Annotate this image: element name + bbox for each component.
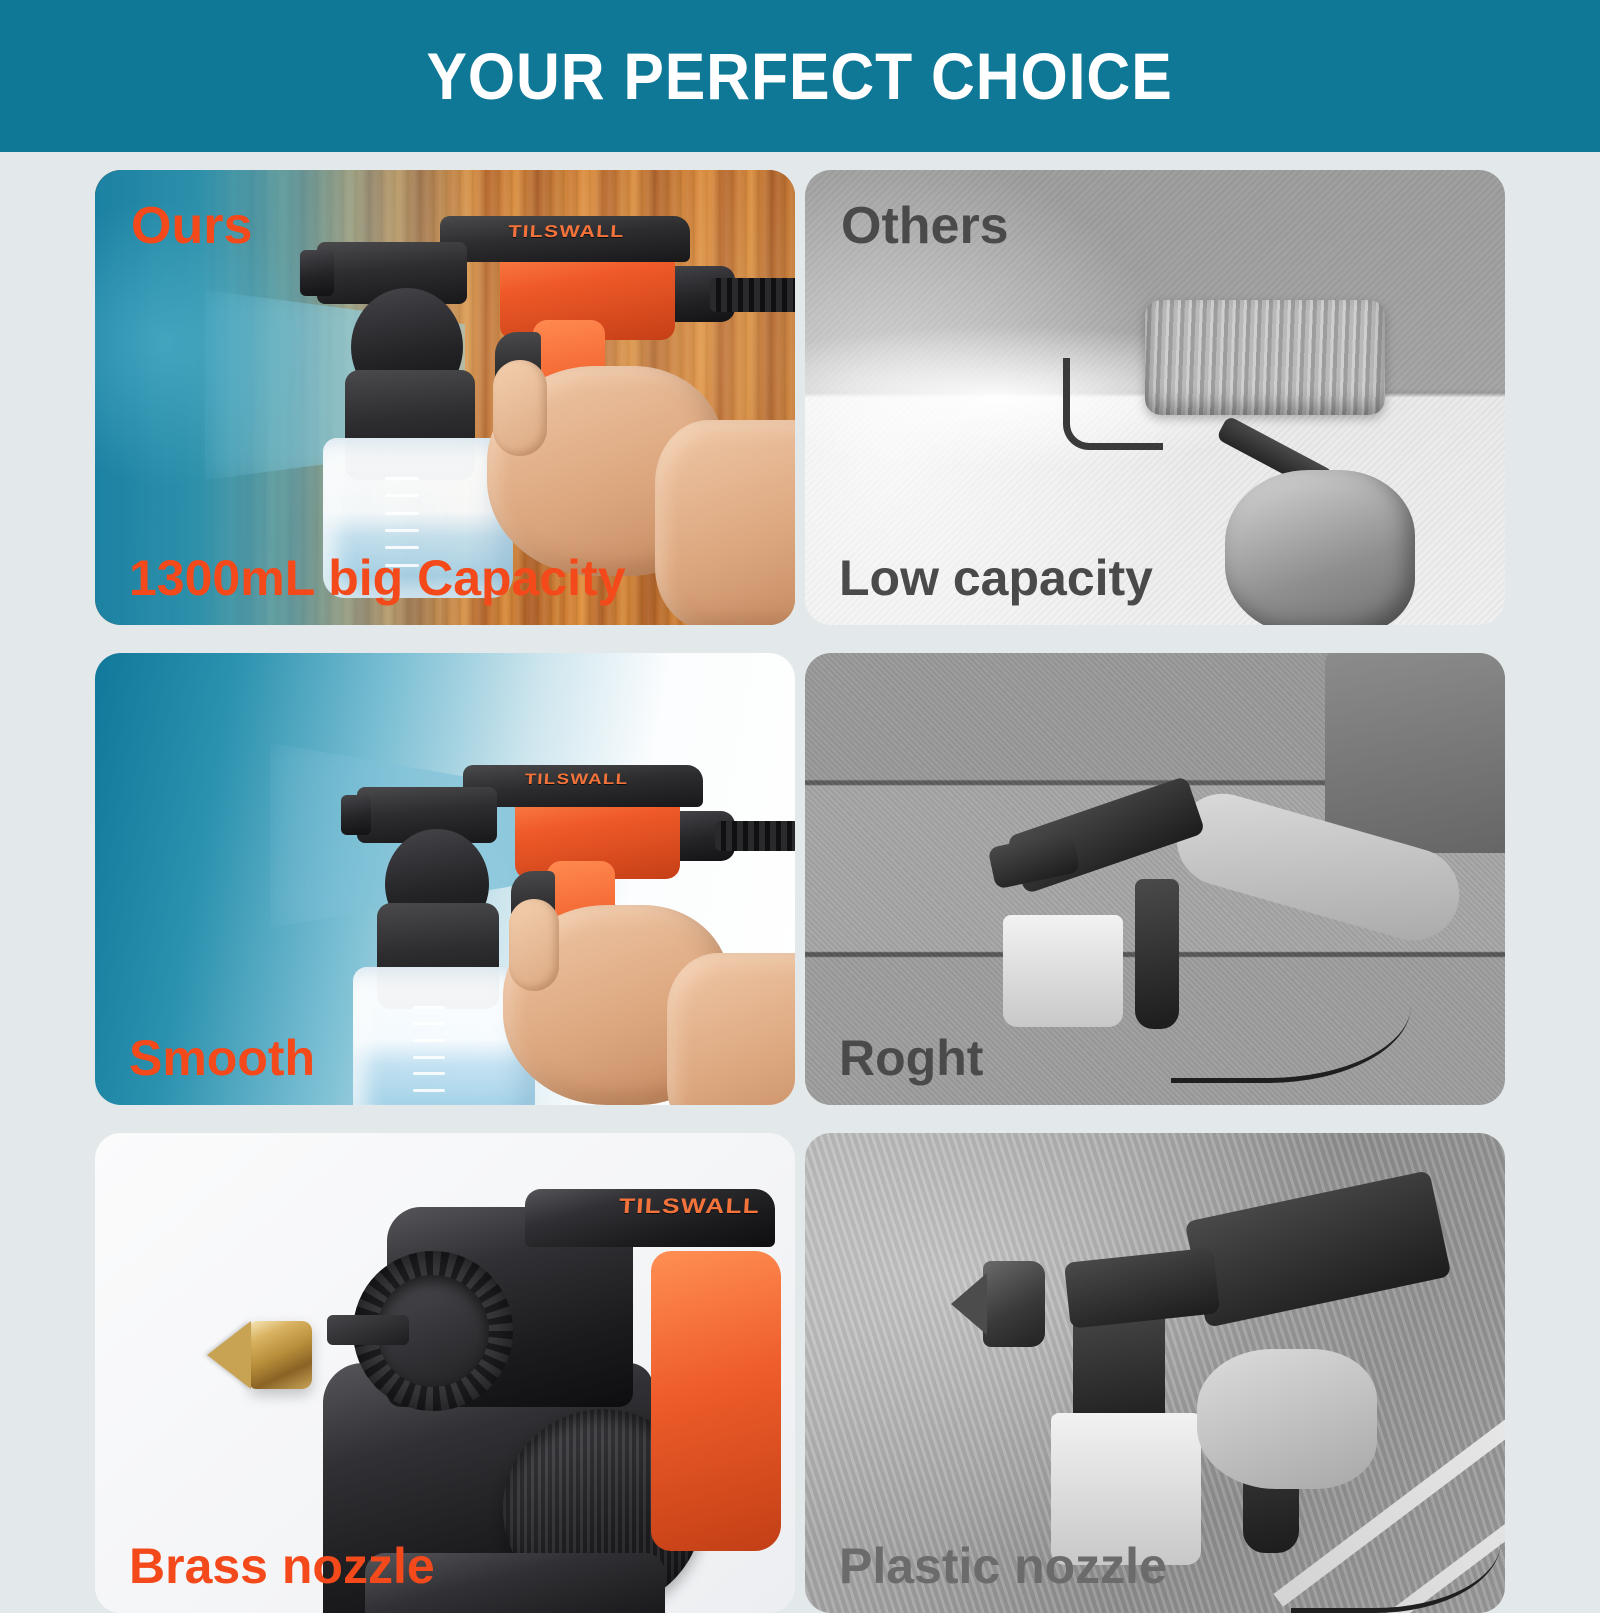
person-torso bbox=[1325, 653, 1505, 853]
brand-logo: TILSWALL bbox=[508, 222, 626, 242]
hose-icon bbox=[715, 821, 795, 851]
brass-nozzle-tip-icon bbox=[207, 1321, 251, 1389]
panel-label-smooth: Smooth bbox=[129, 1029, 315, 1087]
forearm bbox=[655, 420, 795, 625]
panel-others-rough[interactable]: Roght bbox=[805, 653, 1505, 1105]
panel-label-rough: Roght bbox=[839, 1029, 983, 1087]
competitor-paint-cup bbox=[1003, 915, 1123, 1027]
hose-icon bbox=[710, 278, 795, 312]
sprayer-orange-body bbox=[651, 1251, 781, 1551]
plastic-nozzle-icon bbox=[983, 1261, 1045, 1347]
panel-label-plastic-nozzle: Plastic nozzle bbox=[839, 1537, 1167, 1595]
comparison-grid: TILSWALL Ours 1300mL big Capacity Others… bbox=[0, 152, 1600, 1600]
gloved-hand bbox=[1225, 470, 1415, 625]
brand-logo: TILSWALL bbox=[524, 771, 629, 788]
panel-ours-brass-nozzle[interactable]: TILSWALL Brass nozzle bbox=[95, 1133, 795, 1613]
brass-nozzle-icon bbox=[250, 1321, 312, 1389]
sprayer-air-cap bbox=[341, 795, 371, 835]
paint-roller-icon bbox=[1145, 300, 1385, 415]
index-finger bbox=[509, 899, 559, 991]
paint-cup-measure-ticks bbox=[413, 999, 445, 1099]
panel-label-capacity: 1300mL big Capacity bbox=[129, 549, 626, 607]
sprayer-mount-bracket bbox=[327, 1315, 409, 1345]
sprayer-air-cap bbox=[300, 250, 334, 296]
panel-ours-smooth[interactable]: TILSWALL Smooth bbox=[95, 653, 795, 1105]
panel-label-brass-nozzle: Brass nozzle bbox=[129, 1537, 435, 1595]
competitor-trigger-handle bbox=[1135, 879, 1179, 1029]
panel-others-plastic-nozzle[interactable]: Plastic nozzle bbox=[805, 1133, 1505, 1613]
index-finger bbox=[493, 360, 547, 456]
panel-ours-capacity[interactable]: TILSWALL Ours 1300mL big Capacity bbox=[95, 170, 795, 625]
panel-label-ours: Ours bbox=[131, 196, 252, 256]
panel-label-low-capacity: Low capacity bbox=[839, 549, 1153, 607]
page-header: YOUR PERFECT CHOICE bbox=[0, 0, 1600, 152]
panel-label-others: Others bbox=[841, 196, 1009, 256]
panel-others-capacity[interactable]: Others Low capacity bbox=[805, 170, 1505, 625]
brand-logo: TILSWALL bbox=[618, 1195, 761, 1219]
forearm bbox=[667, 953, 795, 1105]
operator-hand bbox=[1197, 1349, 1377, 1489]
plastic-nozzle-tip-icon bbox=[951, 1273, 987, 1335]
page-title: YOUR PERFECT CHOICE bbox=[427, 38, 1173, 114]
